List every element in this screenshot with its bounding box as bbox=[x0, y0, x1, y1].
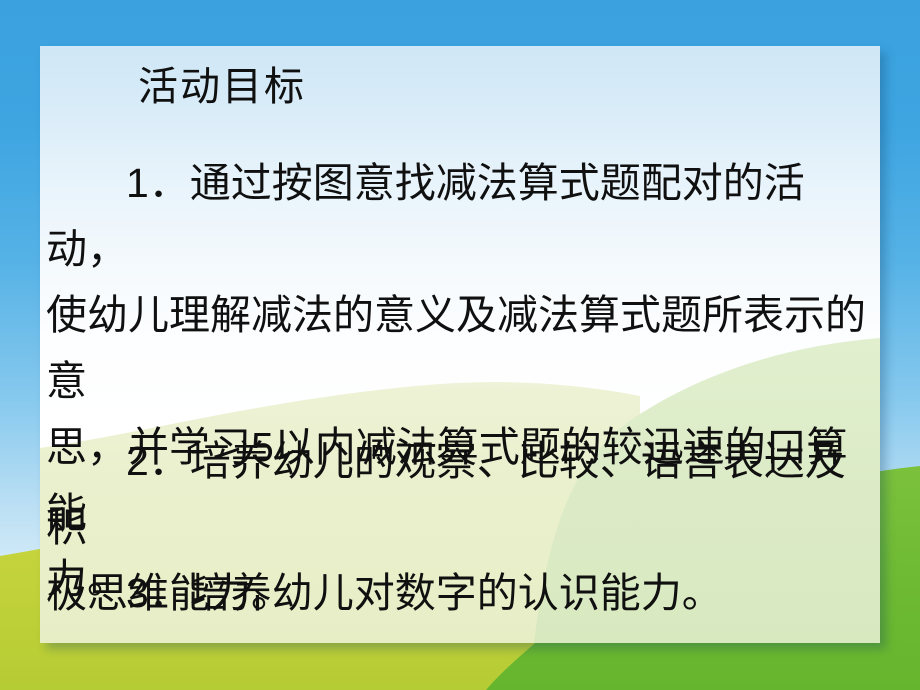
slide-text-layer: 活动目标 1．通过按图意找减法算式题配对的活动， 使幼儿理解减法的意义及减法算式… bbox=[40, 46, 880, 643]
goal-3-line-1: 3．培养幼儿对数字的认识能力。 bbox=[46, 560, 874, 626]
goal-paragraph-3: 3．培养幼儿对数字的认识能力。 bbox=[46, 560, 874, 626]
goal-1-line-2: 使幼儿理解减法的意义及减法算式题所表示的意 bbox=[46, 282, 874, 414]
goal-1-line-1: 1．通过按图意找减法算式题配对的活动， bbox=[46, 150, 874, 282]
goal-2-line-1: 2．培养幼儿的观察、比较、语言表达及积 bbox=[46, 428, 874, 560]
slide-canvas: 活动目标 1．通过按图意找减法算式题配对的活动， 使幼儿理解减法的意义及减法算式… bbox=[0, 0, 920, 690]
page-title: 活动目标 bbox=[138, 67, 306, 107]
